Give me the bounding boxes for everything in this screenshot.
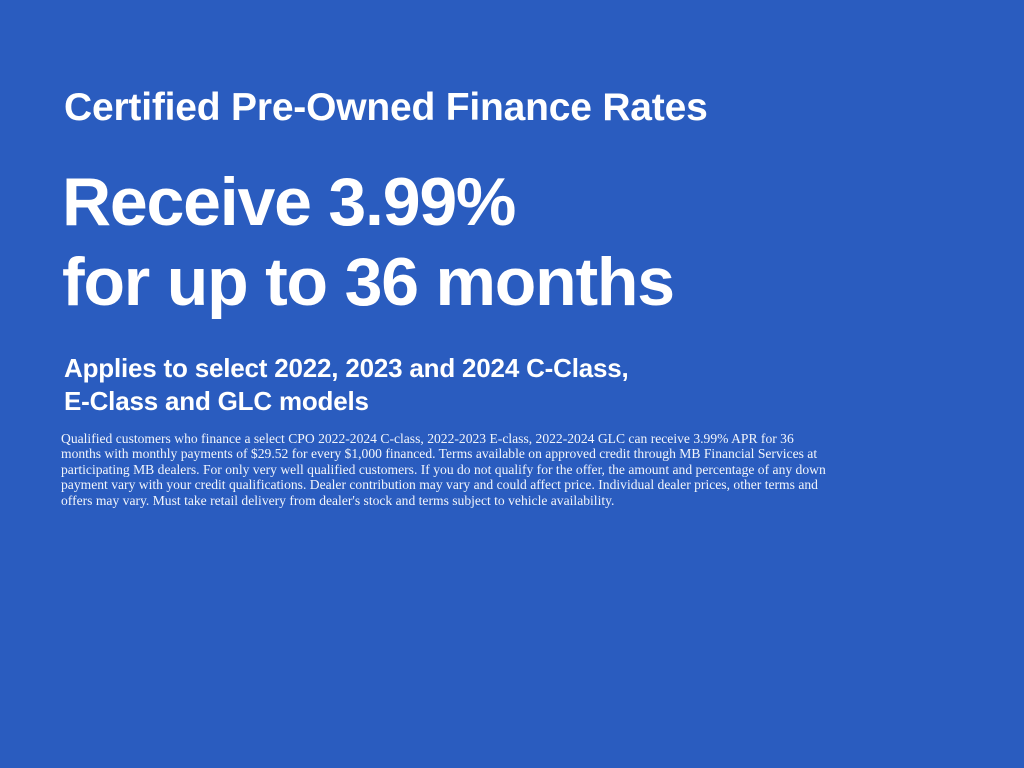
fine-print-line-4: payment vary with your credit qualificat… — [61, 477, 983, 492]
headline: Receive 3.99% for up to 36 months — [62, 162, 962, 322]
legal-fine-print: Qualified customers who finance a select… — [61, 431, 983, 508]
fine-print-line-1: Qualified customers who finance a select… — [61, 431, 983, 446]
fine-print-line-2: months with monthly payments of $29.52 f… — [61, 446, 983, 461]
kicker-title: Certified Pre-Owned Finance Rates — [64, 84, 964, 132]
promotional-slide: Certified Pre-Owned Finance Rates Receiv… — [0, 0, 1024, 768]
subheadline-line-1: Applies to select 2022, 2023 and 2024 C-… — [64, 352, 964, 385]
headline-line-2: for up to 36 months — [62, 242, 962, 322]
subheadline-line-2: E-Class and GLC models — [64, 385, 964, 418]
subheadline: Applies to select 2022, 2023 and 2024 C-… — [64, 352, 964, 418]
fine-print-line-3: participating MB dealers. For only very … — [61, 462, 983, 477]
fine-print-line-5: offers may vary. Must take retail delive… — [61, 493, 983, 508]
headline-line-1: Receive 3.99% — [62, 162, 962, 242]
